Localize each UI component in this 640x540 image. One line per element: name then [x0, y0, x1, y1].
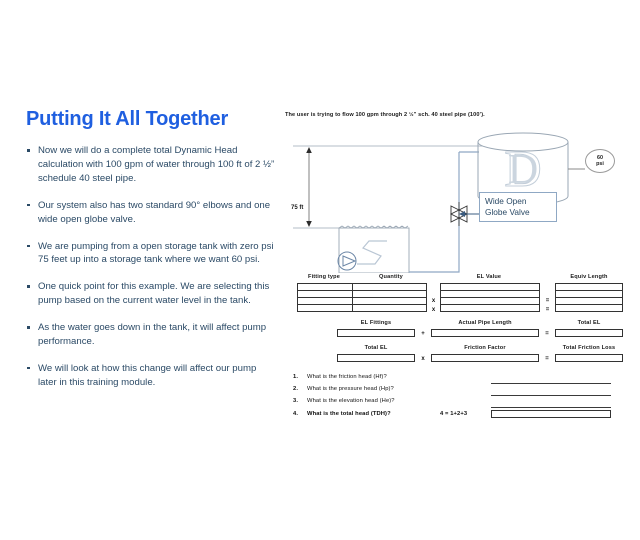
equals-symbol: =: [544, 298, 551, 304]
list-item-text: Now we will do a complete total Dynamic …: [38, 145, 274, 184]
list-item: One quick point for this example. We are…: [26, 280, 276, 308]
table-row[interactable]: [298, 298, 427, 305]
bullet-dot-icon: [27, 367, 30, 370]
equation-row-friction: Total EL x Friction Factor = Total Frict…: [283, 345, 631, 366]
question-text: What is the total head (TDH)?: [307, 411, 391, 417]
page-title: Putting It All Together: [26, 108, 276, 130]
el-value-table[interactable]: [440, 283, 540, 312]
field-total-el[interactable]: [555, 329, 623, 337]
question-row: 3. What is the elevation head (He)?: [283, 398, 631, 410]
bullet-dot-icon: [27, 204, 30, 207]
arrow-up-icon: [306, 147, 312, 153]
diagram-caption: The user is trying to flow 100 gpm throu…: [285, 112, 485, 118]
piping-schematic: D: [283, 128, 628, 273]
question-row: 4. What is the total head (TDH)? 4 = 1+2…: [283, 410, 631, 424]
list-item: Now we will do a complete total Dynamic …: [26, 144, 276, 186]
field-total-friction-loss[interactable]: [555, 354, 623, 362]
source-tank: [339, 228, 409, 273]
column-header-el-value: EL Value: [438, 274, 540, 282]
cell-el-value[interactable]: [441, 284, 540, 291]
question-formula: 4 = 1+2+3: [440, 411, 467, 417]
field-actual-pipe-length[interactable]: [431, 329, 539, 337]
cell-quantity[interactable]: [352, 291, 426, 298]
equiv-length-table[interactable]: [555, 283, 623, 312]
table-row[interactable]: [556, 291, 623, 298]
worksheet: Fitting type Quantity EL Value Equiv Len…: [283, 274, 631, 424]
field-total-el-2[interactable]: [337, 354, 415, 362]
pump-arrow-icon: [343, 256, 355, 266]
discharge-pipe: [409, 152, 459, 272]
questions-list: 1. What is the friction head (Hf)? 2. Wh…: [283, 374, 631, 424]
table-row[interactable]: [441, 291, 540, 298]
answer-line-pressure-head[interactable]: [491, 394, 611, 396]
arrow-down-icon: [306, 221, 312, 227]
field-total-head[interactable]: [491, 410, 611, 418]
equation-row-el: EL Fittings + Actual Pipe Length = Total…: [283, 320, 631, 341]
tank-graphic: [357, 241, 387, 264]
equals-symbol: =: [543, 356, 551, 362]
list-item-text: Our system also has two standard 90° elb…: [38, 200, 270, 225]
question-row: 2. What is the pressure head (Hp)?: [283, 386, 631, 398]
tank-letter-glyph: D: [504, 141, 542, 198]
cell-quantity[interactable]: [352, 284, 426, 291]
cell-fitting-type[interactable]: [298, 305, 353, 312]
label-total-el: Total EL: [555, 320, 623, 328]
column-header-equiv-length: Equiv Length: [553, 274, 625, 282]
question-text: What is the elevation head (He)?: [307, 398, 395, 404]
pressure-gauge: 60 psi: [585, 149, 615, 173]
question-text: What is the pressure head (Hp)?: [307, 386, 394, 392]
label-friction-factor: Friction Factor: [431, 345, 539, 353]
multiply-symbol: x: [430, 307, 437, 313]
pump-icon: [338, 252, 356, 270]
table-row[interactable]: [441, 305, 540, 312]
elevation-label: 75 ft: [291, 205, 303, 211]
valve-callout-line-2: Globe Valve: [485, 207, 556, 218]
cell-quantity[interactable]: [352, 298, 426, 305]
equals-symbol: =: [544, 307, 551, 313]
bullet-list: Now we will do a complete total Dynamic …: [26, 144, 276, 390]
bullet-dot-icon: [27, 285, 30, 288]
bullet-dot-icon: [27, 245, 30, 248]
valve-callout-box: Wide Open Globe Valve: [479, 192, 557, 222]
question-row: 1. What is the friction head (Hf)?: [283, 374, 631, 386]
equals-symbol: =: [543, 331, 551, 337]
slide-text-column: Putting It All Together Now we will do a…: [26, 108, 276, 403]
cell-equiv-length[interactable]: [556, 298, 623, 305]
multiply-symbol: x: [430, 298, 437, 304]
table-row[interactable]: [298, 305, 427, 312]
list-item-text: As the water goes down in the tank, it w…: [38, 322, 266, 347]
table-row[interactable]: [441, 298, 540, 305]
table-row[interactable]: [298, 284, 427, 291]
column-header-fitting-type: Fitting type: [297, 274, 351, 282]
cell-el-value[interactable]: [441, 305, 540, 312]
cell-equiv-length[interactable]: [556, 291, 623, 298]
cell-fitting-type[interactable]: [298, 298, 353, 305]
field-el-fittings[interactable]: [337, 329, 415, 337]
label-total-el-2: Total EL: [337, 345, 415, 353]
list-item: We will look at how this change will aff…: [26, 362, 276, 390]
answer-line-elevation-head[interactable]: [491, 406, 611, 408]
list-item: As the water goes down in the tank, it w…: [26, 321, 276, 349]
table-row[interactable]: [298, 291, 427, 298]
question-number: 3.: [293, 398, 298, 404]
multiply-symbol: x: [419, 356, 427, 362]
slide-canvas: Putting It All Together Now we will do a…: [0, 0, 640, 540]
cell-el-value[interactable]: [441, 298, 540, 305]
bullet-dot-icon: [27, 149, 30, 152]
table-row[interactable]: [556, 305, 623, 312]
list-item-text: We will look at how this change will aff…: [38, 363, 256, 388]
fitting-tables-row: Fitting type Quantity EL Value Equiv Len…: [283, 274, 631, 316]
cell-fitting-type[interactable]: [298, 284, 353, 291]
field-friction-factor[interactable]: [431, 354, 539, 362]
column-header-quantity: Quantity: [355, 274, 427, 282]
cell-el-value[interactable]: [441, 291, 540, 298]
question-number: 2.: [293, 386, 298, 392]
cell-fitting-type[interactable]: [298, 291, 353, 298]
label-actual-pipe-length: Actual Pipe Length: [431, 320, 539, 328]
question-number: 4.: [293, 411, 298, 417]
list-item: We are pumping from a open storage tank …: [26, 240, 276, 268]
list-item: Our system also has two standard 90° elb…: [26, 199, 276, 227]
list-item-text: One quick point for this example. We are…: [38, 281, 269, 306]
bullet-dot-icon: [27, 326, 30, 329]
question-number: 1.: [293, 374, 298, 380]
answer-line-friction-head[interactable]: [491, 382, 611, 384]
cell-equiv-length[interactable]: [556, 284, 623, 291]
cell-equiv-length[interactable]: [556, 305, 623, 312]
table-row[interactable]: [556, 284, 623, 291]
fitting-quantity-table[interactable]: [297, 283, 427, 312]
table-row[interactable]: [441, 284, 540, 291]
table-row[interactable]: [556, 298, 623, 305]
gauge-unit: psi: [586, 161, 614, 167]
list-item-text: We are pumping from a open storage tank …: [38, 241, 274, 266]
label-total-friction-loss: Total Friction Loss: [555, 345, 623, 353]
label-el-fittings: EL Fittings: [337, 320, 415, 328]
cell-quantity[interactable]: [352, 305, 426, 312]
valve-callout-line-1: Wide Open: [485, 196, 556, 207]
question-text: What is the friction head (Hf)?: [307, 374, 387, 380]
plus-symbol: +: [419, 331, 427, 337]
